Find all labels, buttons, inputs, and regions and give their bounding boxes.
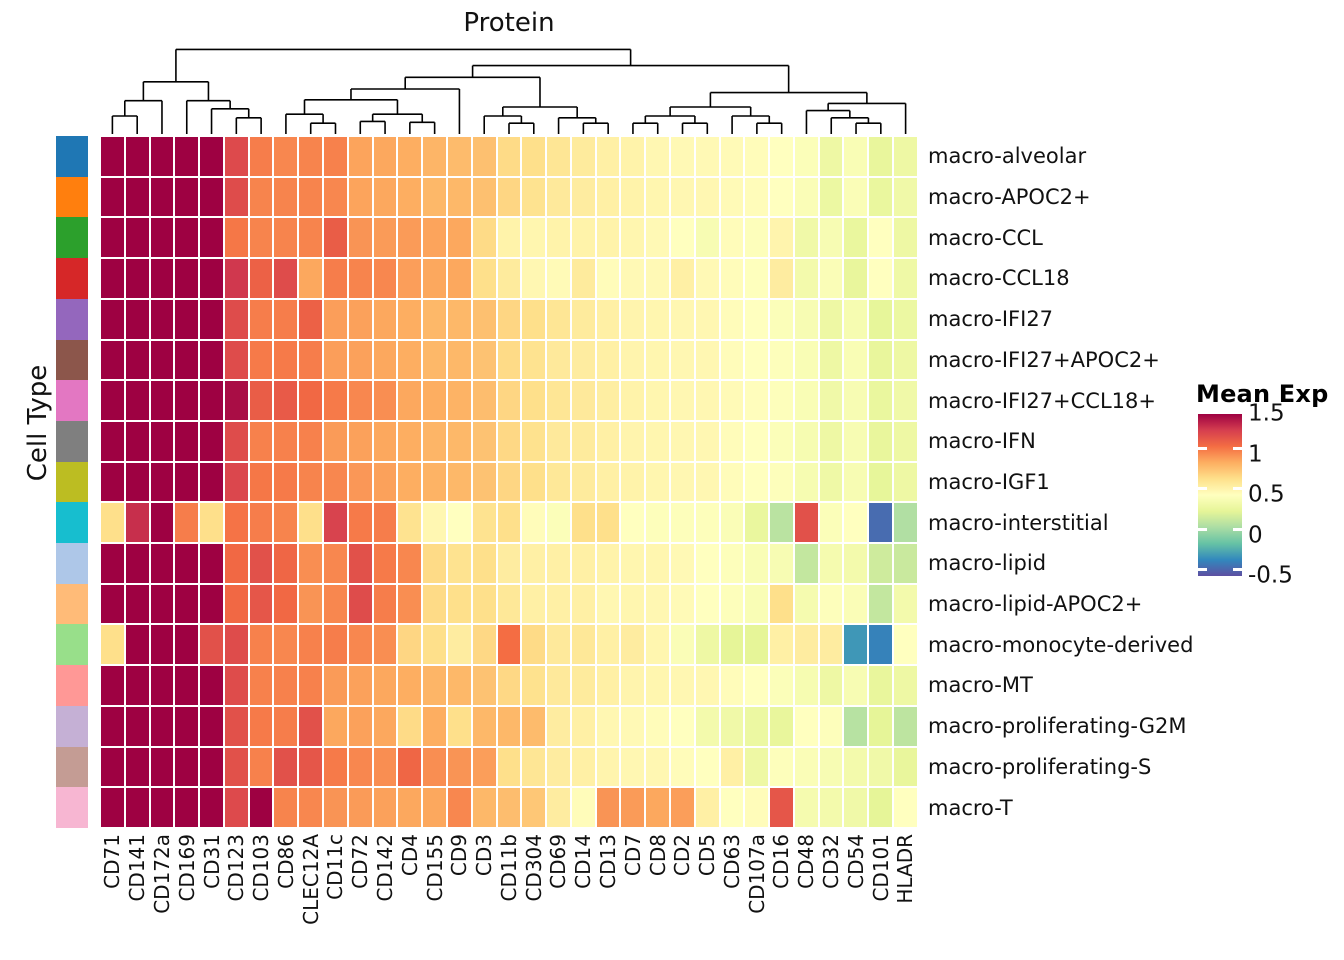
heatmap-cell[interactable] [472,747,497,788]
heatmap-cell[interactable] [174,706,199,747]
heatmap-cell[interactable] [620,462,645,503]
heatmap-cell[interactable] [521,624,546,665]
heatmap-cell[interactable] [397,136,422,177]
heatmap-cell[interactable] [125,299,150,340]
heatmap-cell[interactable] [249,340,274,381]
heatmap-cell[interactable] [794,462,819,503]
heatmap-cell[interactable] [298,624,323,665]
heatmap-cell[interactable] [174,462,199,503]
heatmap-cell[interactable] [769,747,794,788]
heatmap-cell[interactable] [620,217,645,258]
heatmap-cell[interactable] [571,706,596,747]
heatmap-cell[interactable] [670,787,695,828]
heatmap-cell[interactable] [868,177,893,218]
heatmap-cell[interactable] [819,421,844,462]
heatmap-cell[interactable] [497,502,522,543]
heatmap-cell[interactable] [422,462,447,503]
heatmap-cell[interactable] [174,299,199,340]
heatmap-cell[interactable] [397,665,422,706]
heatmap-cell[interactable] [497,258,522,299]
heatmap-cell[interactable] [620,543,645,584]
heatmap-cell[interactable] [150,665,175,706]
heatmap-cell[interactable] [893,747,918,788]
heatmap-cell[interactable] [298,299,323,340]
heatmap-cell[interactable] [893,787,918,828]
heatmap-cell[interactable] [174,665,199,706]
heatmap-cell[interactable] [571,747,596,788]
heatmap-cell[interactable] [670,258,695,299]
heatmap-cell[interactable] [273,584,298,625]
heatmap-cell[interactable] [497,543,522,584]
heatmap-cell[interactable] [422,502,447,543]
heatmap-cell[interactable] [249,502,274,543]
heatmap-cell[interactable] [893,340,918,381]
heatmap-cell[interactable] [645,502,670,543]
heatmap-cell[interactable] [199,421,224,462]
heatmap-cell[interactable] [645,543,670,584]
heatmap-cell[interactable] [472,706,497,747]
heatmap-cell[interactable] [893,258,918,299]
heatmap-cell[interactable] [620,706,645,747]
heatmap-cell[interactable] [645,787,670,828]
heatmap-cell[interactable] [596,217,621,258]
heatmap-cell[interactable] [100,136,125,177]
heatmap-cell[interactable] [199,177,224,218]
heatmap-cell[interactable] [298,340,323,381]
heatmap-cell[interactable] [620,624,645,665]
heatmap-cell[interactable] [794,624,819,665]
heatmap-cell[interactable] [571,502,596,543]
heatmap-cell[interactable] [422,706,447,747]
heatmap-cell[interactable] [843,665,868,706]
heatmap-cell[interactable] [472,584,497,625]
heatmap-cell[interactable] [868,624,893,665]
heatmap-cell[interactable] [596,584,621,625]
heatmap-cell[interactable] [571,462,596,503]
heatmap-cell[interactable] [323,747,348,788]
heatmap-cell[interactable] [397,421,422,462]
heatmap-cell[interactable] [249,624,274,665]
heatmap-cell[interactable] [546,502,571,543]
heatmap-cell[interactable] [323,380,348,421]
heatmap-cell[interactable] [670,706,695,747]
heatmap-cell[interactable] [298,584,323,625]
heatmap-cell[interactable] [868,217,893,258]
heatmap-cell[interactable] [695,584,720,625]
heatmap-cell[interactable] [150,502,175,543]
heatmap-cell[interactable] [769,217,794,258]
heatmap-cell[interactable] [323,462,348,503]
heatmap-cell[interactable] [298,502,323,543]
heatmap-cell[interactable] [125,258,150,299]
heatmap-cell[interactable] [472,421,497,462]
heatmap-cell[interactable] [447,665,472,706]
heatmap-cell[interactable] [645,258,670,299]
heatmap-cell[interactable] [199,258,224,299]
heatmap-cell[interactable] [298,787,323,828]
heatmap-cell[interactable] [373,136,398,177]
heatmap-cell[interactable] [769,543,794,584]
heatmap-cell[interactable] [521,177,546,218]
heatmap-cell[interactable] [273,421,298,462]
heatmap-cell[interactable] [620,421,645,462]
heatmap-cell[interactable] [620,380,645,421]
heatmap-cell[interactable] [249,258,274,299]
heatmap-cell[interactable] [546,706,571,747]
heatmap-cell[interactable] [521,543,546,584]
heatmap-cell[interactable] [249,706,274,747]
heatmap-cell[interactable] [843,258,868,299]
heatmap-cell[interactable] [100,624,125,665]
heatmap-cell[interactable] [819,258,844,299]
heatmap-cell[interactable] [125,665,150,706]
heatmap-cell[interactable] [174,421,199,462]
heatmap-cell[interactable] [497,747,522,788]
heatmap-cell[interactable] [323,584,348,625]
heatmap-cell[interactable] [397,624,422,665]
heatmap-cell[interactable] [720,258,745,299]
heatmap-cell[interactable] [521,747,546,788]
heatmap-cell[interactable] [546,340,571,381]
heatmap-cell[interactable] [100,340,125,381]
heatmap-cell[interactable] [472,462,497,503]
heatmap-cell[interactable] [150,217,175,258]
heatmap-cell[interactable] [323,665,348,706]
heatmap-cell[interactable] [249,665,274,706]
heatmap-cell[interactable] [546,217,571,258]
heatmap-cell[interactable] [199,787,224,828]
heatmap-cell[interactable] [546,380,571,421]
heatmap-cell[interactable] [323,177,348,218]
heatmap-cell[interactable] [645,136,670,177]
heatmap-cell[interactable] [521,787,546,828]
heatmap-cell[interactable] [819,177,844,218]
heatmap-cell[interactable] [174,136,199,177]
heatmap-cell[interactable] [373,299,398,340]
heatmap-cell[interactable] [224,502,249,543]
heatmap-cell[interactable] [249,380,274,421]
heatmap-cell[interactable] [447,136,472,177]
heatmap-cell[interactable] [819,706,844,747]
heatmap-cell[interactable] [397,502,422,543]
heatmap-cell[interactable] [397,299,422,340]
heatmap-cell[interactable] [323,543,348,584]
heatmap-cell[interactable] [819,462,844,503]
heatmap-cell[interactable] [546,747,571,788]
heatmap-cell[interactable] [843,380,868,421]
heatmap-cell[interactable] [199,665,224,706]
heatmap-cell[interactable] [373,177,398,218]
heatmap-cell[interactable] [744,543,769,584]
heatmap-cell[interactable] [100,706,125,747]
heatmap-cell[interactable] [224,177,249,218]
heatmap-cell[interactable] [397,380,422,421]
heatmap-cell[interactable] [620,177,645,218]
heatmap-cell[interactable] [199,136,224,177]
heatmap-cell[interactable] [422,136,447,177]
heatmap-cell[interactable] [125,380,150,421]
heatmap-cell[interactable] [546,299,571,340]
heatmap-cell[interactable] [373,624,398,665]
heatmap-cell[interactable] [249,421,274,462]
heatmap-cell[interactable] [348,665,373,706]
heatmap-cell[interactable] [373,380,398,421]
heatmap-cell[interactable] [422,747,447,788]
heatmap-cell[interactable] [397,787,422,828]
heatmap-cell[interactable] [645,380,670,421]
heatmap-cell[interactable] [521,706,546,747]
heatmap-cell[interactable] [323,340,348,381]
heatmap-cell[interactable] [497,177,522,218]
heatmap-cell[interactable] [348,258,373,299]
heatmap-cell[interactable] [100,380,125,421]
heatmap-cell[interactable] [224,299,249,340]
heatmap-cell[interactable] [100,421,125,462]
heatmap-cell[interactable] [819,624,844,665]
heatmap-cell[interactable] [868,380,893,421]
heatmap-cell[interactable] [794,747,819,788]
heatmap-cell[interactable] [273,706,298,747]
heatmap-cell[interactable] [150,747,175,788]
heatmap-cell[interactable] [744,706,769,747]
heatmap-cell[interactable] [670,177,695,218]
heatmap-cell[interactable] [348,543,373,584]
heatmap-cell[interactable] [645,665,670,706]
heatmap-cell[interactable] [150,340,175,381]
heatmap-cell[interactable] [769,380,794,421]
heatmap-cell[interactable] [224,421,249,462]
heatmap-cell[interactable] [497,217,522,258]
heatmap-cell[interactable] [769,258,794,299]
heatmap-cell[interactable] [224,380,249,421]
heatmap-cell[interactable] [373,787,398,828]
heatmap-cell[interactable] [571,340,596,381]
heatmap-cell[interactable] [273,340,298,381]
heatmap-cell[interactable] [298,462,323,503]
heatmap-cell[interactable] [447,584,472,625]
heatmap-cell[interactable] [472,624,497,665]
heatmap-cell[interactable] [893,421,918,462]
heatmap-cell[interactable] [472,665,497,706]
heatmap-cell[interactable] [224,747,249,788]
heatmap-cell[interactable] [670,665,695,706]
heatmap-cell[interactable] [794,584,819,625]
heatmap-cell[interactable] [645,584,670,625]
heatmap-cell[interactable] [100,584,125,625]
heatmap-cell[interactable] [298,421,323,462]
heatmap-cell[interactable] [843,584,868,625]
heatmap-cell[interactable] [769,787,794,828]
heatmap-cell[interactable] [373,340,398,381]
heatmap-cell[interactable] [744,217,769,258]
heatmap-cell[interactable] [422,217,447,258]
heatmap-cell[interactable] [720,543,745,584]
heatmap-cell[interactable] [843,340,868,381]
heatmap-cell[interactable] [472,787,497,828]
heatmap-cell[interactable] [174,177,199,218]
heatmap-cell[interactable] [249,462,274,503]
heatmap-cell[interactable] [323,217,348,258]
heatmap-cell[interactable] [150,299,175,340]
heatmap-cell[interactable] [843,421,868,462]
heatmap-cell[interactable] [521,136,546,177]
heatmap-cell[interactable] [769,136,794,177]
heatmap-cell[interactable] [893,706,918,747]
heatmap-cell[interactable] [695,747,720,788]
heatmap-cell[interactable] [174,787,199,828]
heatmap-cell[interactable] [744,502,769,543]
heatmap-cell[interactable] [150,706,175,747]
heatmap-cell[interactable] [348,787,373,828]
heatmap-cell[interactable] [596,747,621,788]
heatmap-cell[interactable] [472,217,497,258]
heatmap-cell[interactable] [769,462,794,503]
heatmap-cell[interactable] [720,217,745,258]
heatmap-cell[interactable] [273,136,298,177]
heatmap-cell[interactable] [620,584,645,625]
heatmap-cell[interactable] [298,380,323,421]
heatmap-cell[interactable] [720,706,745,747]
heatmap-cell[interactable] [819,787,844,828]
heatmap-cell[interactable] [348,502,373,543]
heatmap-cell[interactable] [670,421,695,462]
heatmap-cell[interactable] [596,543,621,584]
heatmap-cell[interactable] [695,421,720,462]
heatmap-cell[interactable] [744,258,769,299]
heatmap-cell[interactable] [373,502,398,543]
heatmap-cell[interactable] [150,543,175,584]
heatmap-cell[interactable] [670,380,695,421]
heatmap-cell[interactable] [472,380,497,421]
heatmap-cell[interactable] [447,380,472,421]
heatmap-cell[interactable] [819,380,844,421]
heatmap-cell[interactable] [596,787,621,828]
heatmap-cell[interactable] [447,299,472,340]
heatmap-cell[interactable] [298,177,323,218]
heatmap-cell[interactable] [893,299,918,340]
heatmap-cell[interactable] [150,421,175,462]
heatmap-cell[interactable] [744,299,769,340]
heatmap-cell[interactable] [447,502,472,543]
heatmap-cell[interactable] [249,217,274,258]
heatmap-cell[interactable] [447,177,472,218]
heatmap-cell[interactable] [546,787,571,828]
heatmap-cell[interactable] [769,177,794,218]
heatmap-cell[interactable] [893,136,918,177]
heatmap-cell[interactable] [620,299,645,340]
heatmap-cell[interactable] [695,543,720,584]
heatmap-cell[interactable] [720,584,745,625]
heatmap-cell[interactable] [720,502,745,543]
heatmap-cell[interactable] [100,502,125,543]
heatmap-cell[interactable] [571,380,596,421]
heatmap-cell[interactable] [348,299,373,340]
heatmap-cell[interactable] [348,624,373,665]
heatmap-cell[interactable] [571,136,596,177]
heatmap-cell[interactable] [670,136,695,177]
heatmap-cell[interactable] [174,380,199,421]
heatmap-cell[interactable] [744,177,769,218]
heatmap-cell[interactable] [150,380,175,421]
heatmap-cell[interactable] [199,747,224,788]
heatmap-cell[interactable] [348,380,373,421]
heatmap-cell[interactable] [348,421,373,462]
heatmap-cell[interactable] [843,502,868,543]
heatmap-cell[interactable] [199,706,224,747]
heatmap-cell[interactable] [199,624,224,665]
heatmap-cell[interactable] [373,543,398,584]
heatmap-cell[interactable] [695,706,720,747]
heatmap-cell[interactable] [150,136,175,177]
heatmap-cell[interactable] [794,217,819,258]
heatmap-cell[interactable] [744,136,769,177]
heatmap-cell[interactable] [150,177,175,218]
heatmap-cell[interactable] [546,665,571,706]
heatmap-cell[interactable] [348,462,373,503]
heatmap-cell[interactable] [843,136,868,177]
heatmap-cell[interactable] [298,258,323,299]
heatmap-cell[interactable] [174,502,199,543]
heatmap-cell[interactable] [695,136,720,177]
heatmap-cell[interactable] [744,421,769,462]
heatmap-cell[interactable] [670,624,695,665]
heatmap-cell[interactable] [273,543,298,584]
heatmap-cell[interactable] [397,177,422,218]
heatmap-cell[interactable] [323,502,348,543]
heatmap-cell[interactable] [100,299,125,340]
heatmap-cell[interactable] [422,665,447,706]
heatmap-cell[interactable] [596,706,621,747]
heatmap-cell[interactable] [422,258,447,299]
heatmap-cell[interactable] [100,747,125,788]
heatmap-cell[interactable] [397,462,422,503]
heatmap-cell[interactable] [497,584,522,625]
heatmap-cell[interactable] [174,217,199,258]
heatmap-cell[interactable] [794,380,819,421]
heatmap-cell[interactable] [596,299,621,340]
heatmap-cell[interactable] [546,177,571,218]
heatmap-cell[interactable] [249,584,274,625]
heatmap-cell[interactable] [174,584,199,625]
heatmap-cell[interactable] [249,136,274,177]
heatmap-cell[interactable] [546,136,571,177]
heatmap-cell[interactable] [472,543,497,584]
heatmap-cell[interactable] [100,665,125,706]
heatmap-cell[interactable] [174,340,199,381]
heatmap-cell[interactable] [323,258,348,299]
heatmap-cell[interactable] [596,421,621,462]
heatmap-cell[interactable] [521,421,546,462]
heatmap-cell[interactable] [422,543,447,584]
heatmap-cell[interactable] [125,340,150,381]
heatmap-cell[interactable] [620,340,645,381]
heatmap-cell[interactable] [720,299,745,340]
heatmap-cell[interactable] [868,462,893,503]
heatmap-cell[interactable] [819,136,844,177]
heatmap-cell[interactable] [447,706,472,747]
heatmap-cell[interactable] [720,624,745,665]
heatmap-cell[interactable] [373,462,398,503]
heatmap-cell[interactable] [819,747,844,788]
heatmap-cell[interactable] [720,136,745,177]
heatmap-cell[interactable] [744,665,769,706]
heatmap-cell[interactable] [348,340,373,381]
heatmap-cell[interactable] [794,787,819,828]
heatmap-cell[interactable] [521,665,546,706]
heatmap-cell[interactable] [224,624,249,665]
heatmap-cell[interactable] [868,136,893,177]
heatmap-cell[interactable] [695,624,720,665]
